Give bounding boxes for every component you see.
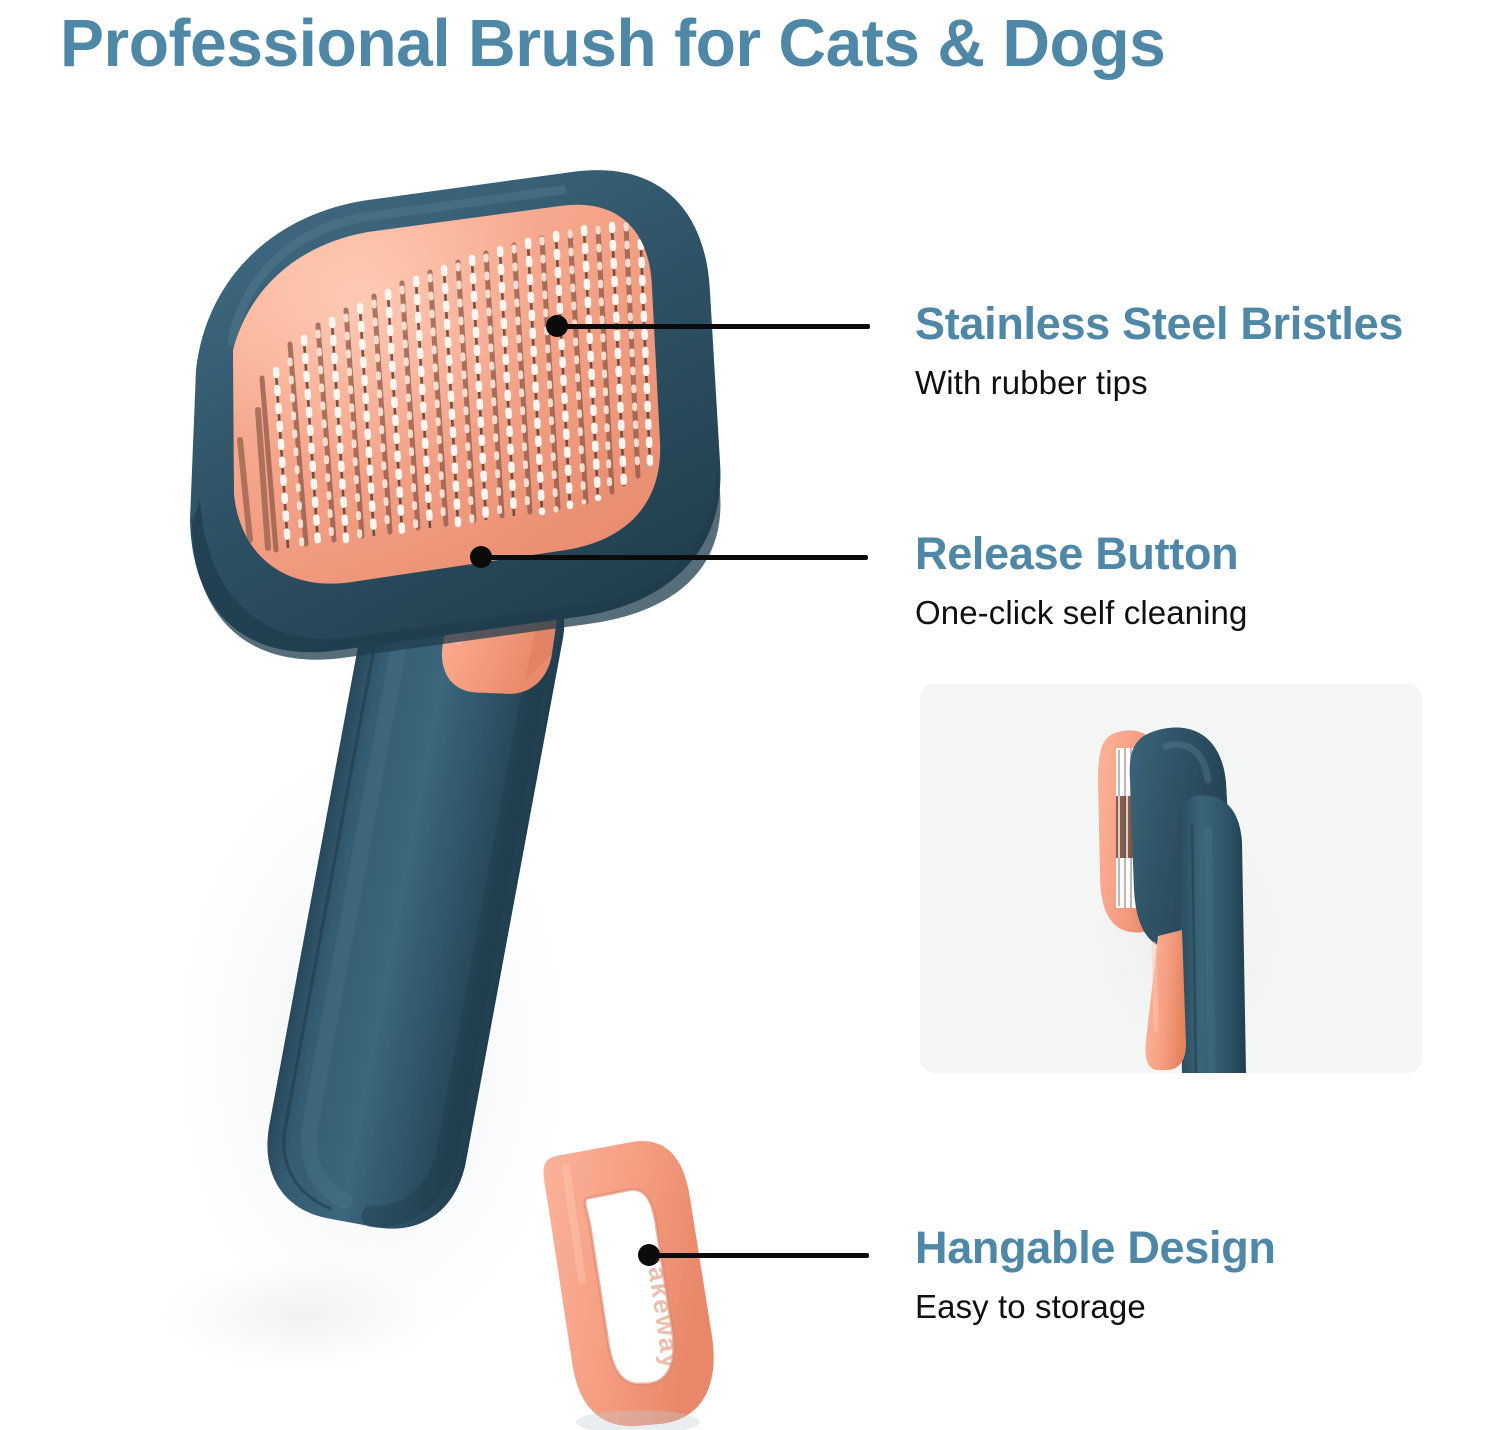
- leader-line-hangable: [651, 1253, 869, 1258]
- leader-line-release: [483, 555, 868, 560]
- hanging-strap: pakeway: [544, 1141, 714, 1430]
- callout-hangable: Hangable Design Easy to storage: [915, 1224, 1276, 1325]
- callout-release-subtitle: One-click self cleaning: [915, 595, 1247, 631]
- callout-release-title: Release Button: [915, 530, 1247, 579]
- callout-hangable-title: Hangable Design: [915, 1224, 1276, 1273]
- inset-photo-panel: [920, 684, 1422, 1073]
- brush-head: [190, 170, 720, 660]
- callout-bristles: Stainless Steel Bristles With rubber tip…: [915, 300, 1403, 401]
- leader-line-bristles: [558, 324, 870, 329]
- callout-bristles-subtitle: With rubber tips: [915, 365, 1403, 401]
- page-title: Professional Brush for Cats & Dogs: [60, 6, 1459, 81]
- callout-hangable-subtitle: Easy to storage: [915, 1289, 1276, 1325]
- infographic-canvas: Professional Brush for Cats & Dogs: [0, 0, 1500, 1430]
- product-image-side-view: [920, 684, 1422, 1073]
- callout-release: Release Button One-click self cleaning: [915, 530, 1247, 631]
- product-image-main: pakeway: [0, 120, 900, 1430]
- callout-bristles-title: Stainless Steel Bristles: [915, 300, 1403, 349]
